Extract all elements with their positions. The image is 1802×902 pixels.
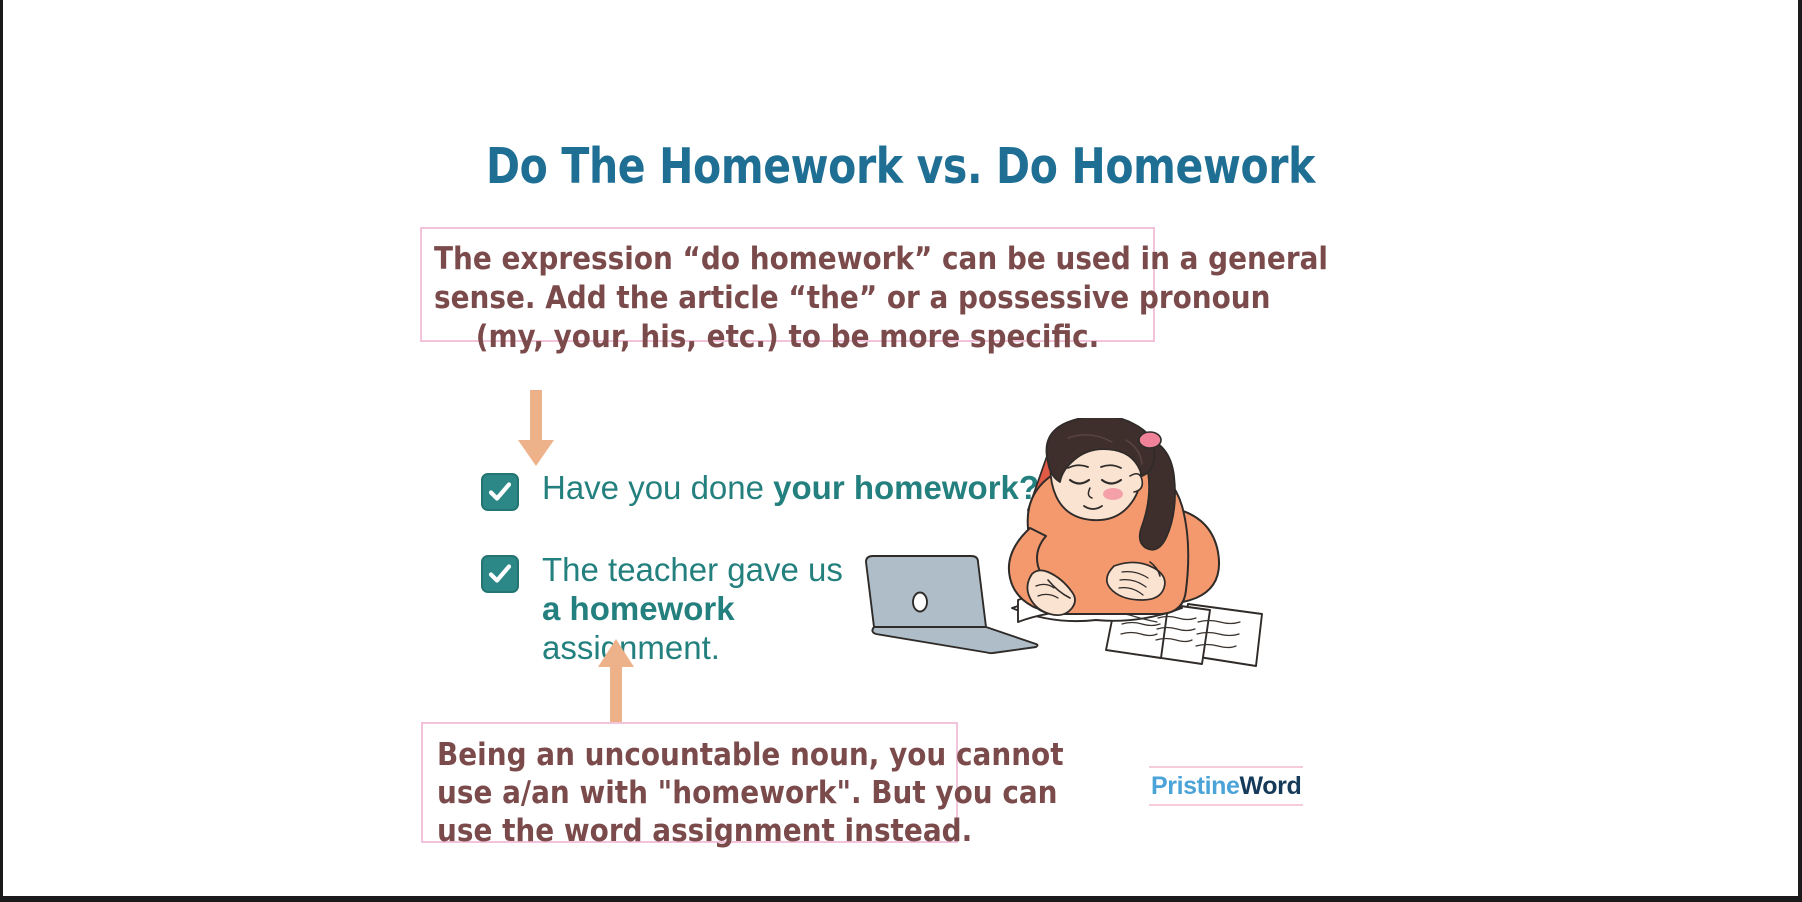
logo-part-word: Word	[1240, 772, 1302, 800]
check-glyph-icon	[487, 561, 513, 587]
check-glyph-icon	[487, 479, 513, 505]
example-1-normal: Have you done	[542, 469, 773, 506]
example-2-bold-a: a	[542, 590, 560, 627]
callout-top: The expression “do homework” can be used…	[420, 227, 1155, 342]
callout-bottom-line-1: Being an uncountable noun, you cannot	[437, 736, 942, 774]
callout-bottom: Being an uncountable noun, you cannot us…	[421, 722, 958, 843]
slide-canvas: Do The Homework vs. Do Homework The expr…	[0, 0, 1802, 902]
arrow-up-icon	[596, 639, 636, 723]
example-2-normal-a: The teacher gave us	[542, 551, 843, 588]
callout-top-line-3: (my, your, his, etc.) to be more specifi…	[434, 318, 1141, 357]
example-2-bold-b: homework	[570, 590, 735, 627]
checkbox-checked-icon[interactable]	[481, 555, 519, 593]
example-item-2-text: The teacher gave us a homework assignmen…	[542, 550, 847, 667]
callout-top-line-1: The expression “do homework” can be used…	[434, 240, 1141, 279]
student-doing-homework-illustration	[858, 418, 1268, 680]
callout-top-line-2: sense. Add the article “the” or a posses…	[434, 279, 1141, 318]
pristineword-logo[interactable]: PristineWord	[1149, 766, 1303, 806]
page-title: Do The Homework vs. Do Homework	[66, 138, 1735, 195]
arrow-down-icon	[516, 390, 556, 466]
callout-bottom-line-2: use a/an with "homework". But you can	[437, 774, 942, 812]
checkbox-checked-icon[interactable]	[481, 473, 519, 511]
logo-part-pristine: Pristine	[1151, 772, 1240, 800]
callout-bottom-line-3: use the word assignment instead.	[437, 812, 942, 850]
example-item-2: The teacher gave us a homework assignmen…	[481, 550, 847, 667]
